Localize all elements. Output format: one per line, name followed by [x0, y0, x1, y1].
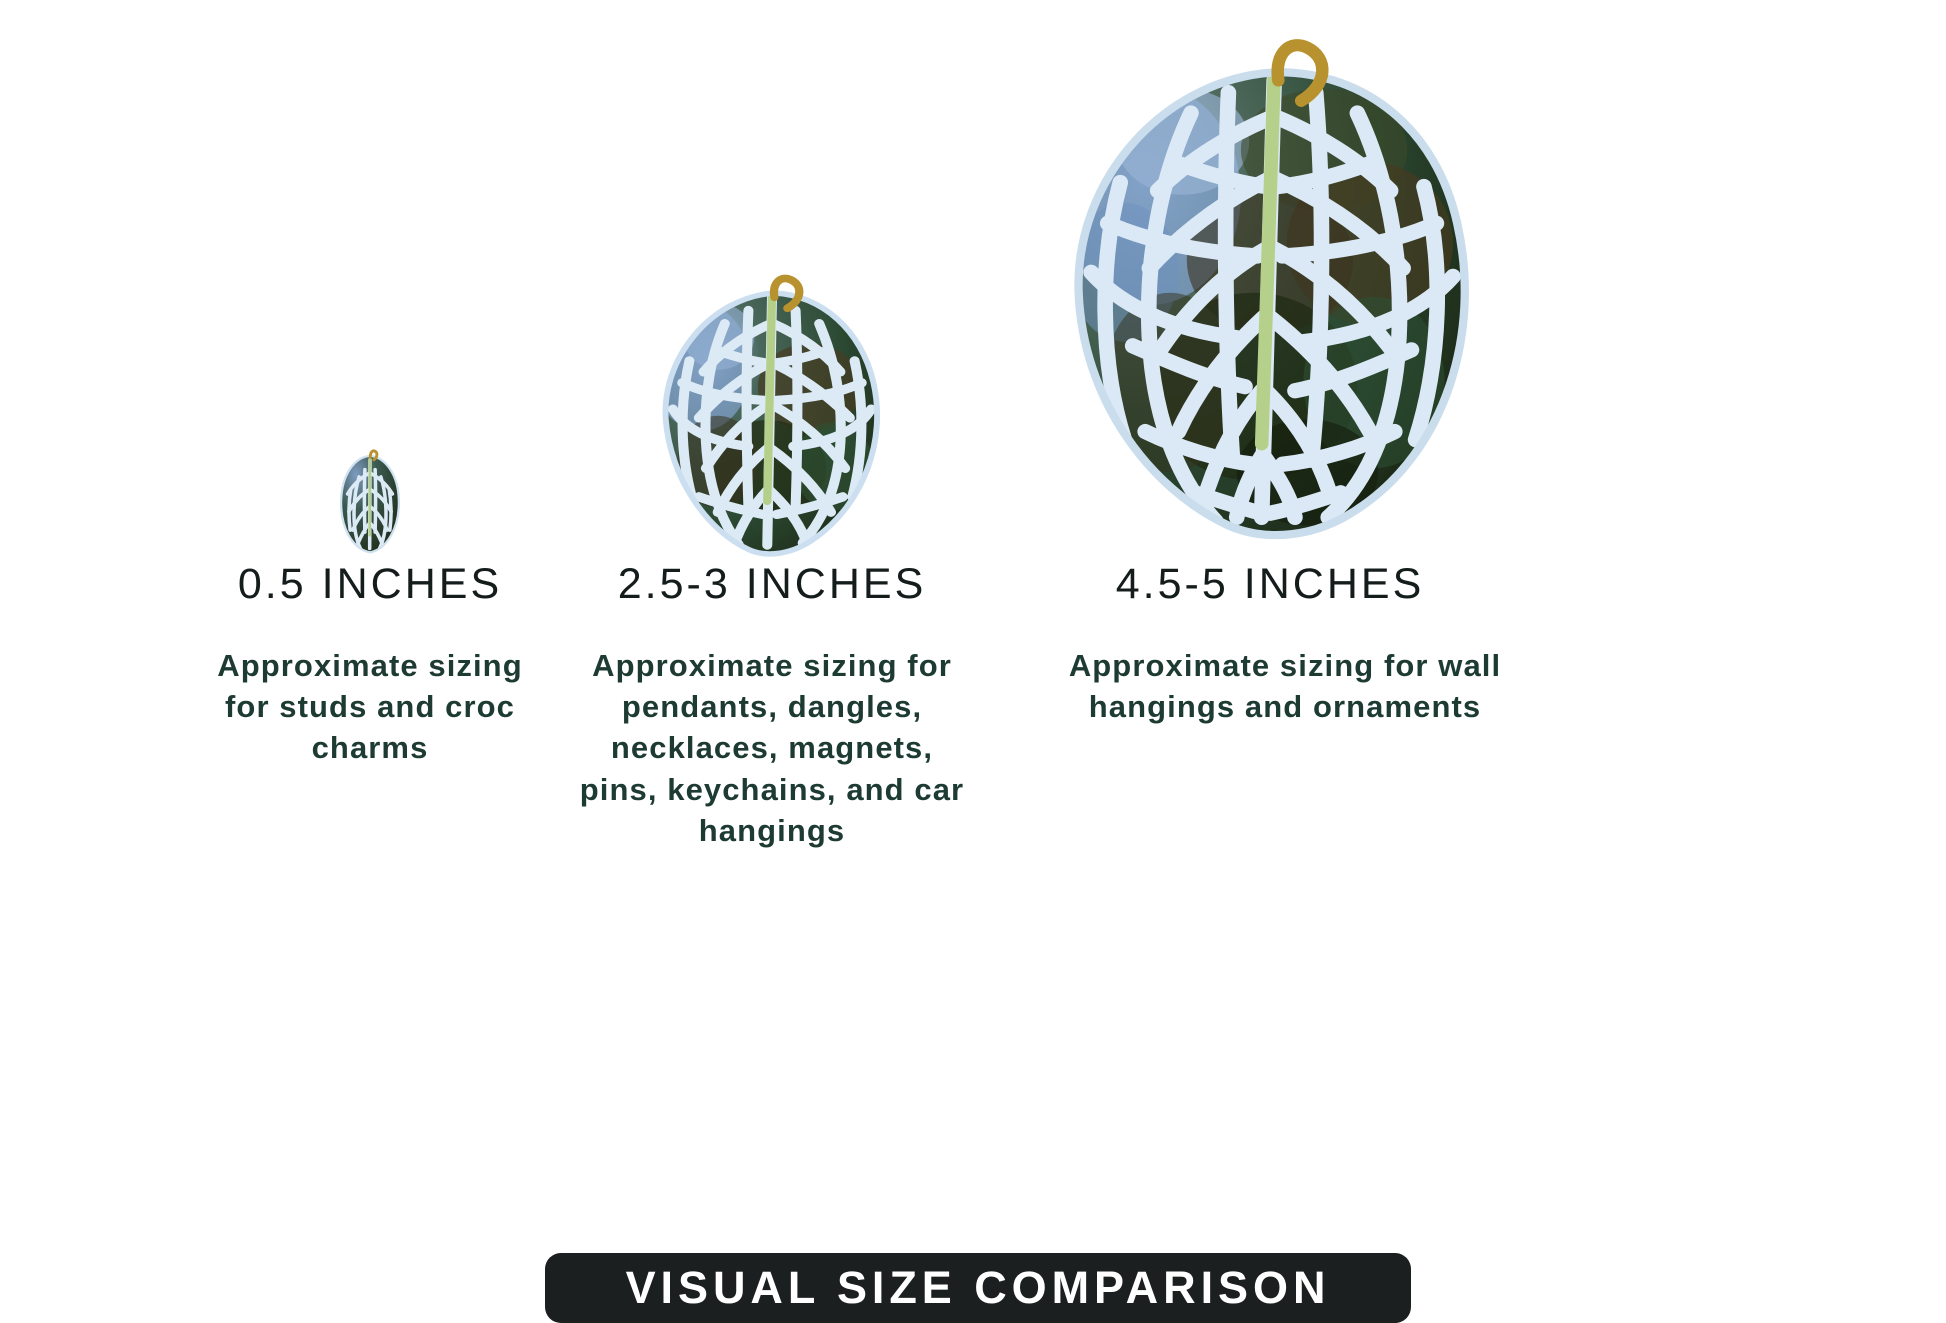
leaf-graphic-small: [338, 450, 402, 555]
size-column-medium: 2.5-3 INCHES Approximate sizing for pend…: [562, 560, 982, 851]
size-label-small: 0.5 INCHES: [168, 560, 572, 609]
size-column-small: 0.5 INCHES Approximate sizing for studs …: [168, 560, 572, 769]
size-column-large: 4.5-5 INCHES Approximate sizing for wall…: [1060, 560, 1480, 727]
size-comparison-infographic: 0.5 INCHES Approximate sizing for studs …: [0, 0, 1946, 1323]
medium-leaf-pendant: [654, 282, 890, 567]
large-leaf-pendant: [1062, 60, 1478, 550]
size-description-medium: Approximate sizing for pendants, dangles…: [572, 645, 972, 851]
small-leaf-pendant: [338, 450, 402, 555]
size-label-large: 4.5-5 INCHES: [1060, 560, 1480, 609]
visual-size-comparison-banner: VISUAL SIZE COMPARISON: [545, 1253, 1411, 1323]
size-description-small: Approximate sizing for studs and croc ch…: [205, 645, 535, 769]
leaf-graphic-large: [1062, 60, 1478, 550]
size-description-large: Approximate sizing for wall hangings and…: [1060, 645, 1510, 727]
leaf-graphic-medium: [654, 282, 890, 567]
banner-label: VISUAL SIZE COMPARISON: [626, 1262, 1331, 1314]
size-label-medium: 2.5-3 INCHES: [562, 560, 982, 609]
